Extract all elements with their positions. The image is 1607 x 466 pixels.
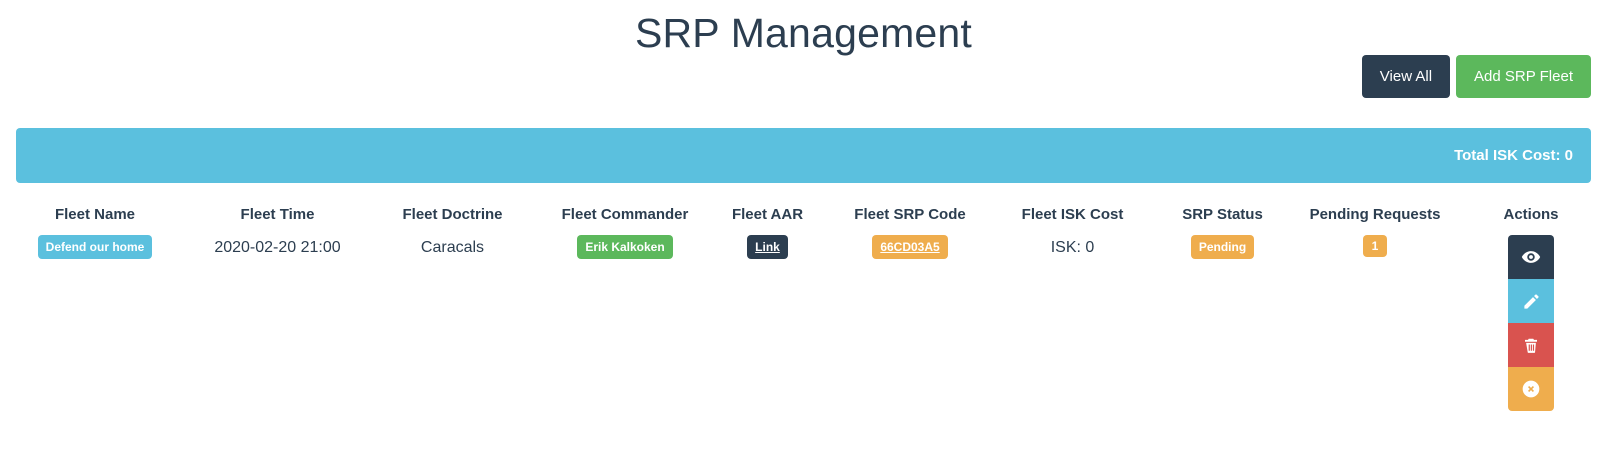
total-isk-cost-label: Total ISK Cost: 0 bbox=[1454, 147, 1591, 164]
disable-srp-fleet-button[interactable] bbox=[1508, 367, 1554, 411]
srp-status-badge: Pending bbox=[1191, 235, 1254, 259]
fleet-time-value: 2020-02-20 21:00 bbox=[214, 235, 340, 257]
total-isk-cost-banner: Total ISK Cost: 0 bbox=[16, 128, 1591, 183]
column-header-srp-status: SRP Status bbox=[1150, 200, 1295, 233]
pending-requests-badge[interactable]: 1 bbox=[1363, 235, 1388, 257]
srp-fleet-table-container: Fleet Name Fleet Time Fleet Doctrine Fle… bbox=[0, 200, 1607, 413]
trash-icon bbox=[1522, 336, 1540, 355]
fleet-aar-link[interactable]: Link bbox=[747, 235, 788, 259]
column-header-pending-requests: Pending Requests bbox=[1295, 200, 1455, 233]
times-circle-icon bbox=[1521, 379, 1541, 399]
row-action-stack bbox=[1459, 235, 1603, 411]
table-header-row: Fleet Name Fleet Time Fleet Doctrine Fle… bbox=[0, 200, 1607, 233]
column-header-actions: Actions bbox=[1455, 200, 1607, 233]
fleet-srp-code-link[interactable]: 66CD03A5 bbox=[872, 235, 947, 259]
add-srp-fleet-button[interactable]: Add SRP Fleet bbox=[1456, 55, 1591, 98]
pencil-icon bbox=[1522, 292, 1541, 311]
column-header-fleet-time: Fleet Time bbox=[190, 200, 365, 233]
fleet-isk-cost-value: ISK: 0 bbox=[1051, 235, 1095, 257]
cell-srp-status: Pending bbox=[1150, 233, 1295, 413]
cell-fleet-isk-cost: ISK: 0 bbox=[995, 233, 1150, 413]
fleet-name-badge[interactable]: Defend our home bbox=[38, 235, 153, 259]
cell-fleet-srp-code: 66CD03A5 bbox=[825, 233, 995, 413]
fleet-commander-badge: Erik Kalkoken bbox=[577, 235, 672, 259]
column-header-fleet-doctrine: Fleet Doctrine bbox=[365, 200, 540, 233]
column-header-fleet-name: Fleet Name bbox=[0, 200, 190, 233]
cell-fleet-commander: Erik Kalkoken bbox=[540, 233, 710, 413]
view-all-button[interactable]: View All bbox=[1362, 55, 1450, 98]
page-title: SRP Management bbox=[0, 0, 1607, 59]
column-header-fleet-commander: Fleet Commander bbox=[540, 200, 710, 233]
cell-pending-requests: 1 bbox=[1295, 233, 1455, 413]
edit-srp-fleet-button[interactable] bbox=[1508, 279, 1554, 323]
delete-srp-fleet-button[interactable] bbox=[1508, 323, 1554, 367]
column-header-fleet-isk-cost: Fleet ISK Cost bbox=[995, 200, 1150, 233]
cell-actions bbox=[1455, 233, 1607, 413]
column-header-fleet-aar: Fleet AAR bbox=[710, 200, 825, 233]
table-row: Defend our home 2020-02-20 21:00 Caracal… bbox=[0, 233, 1607, 413]
cell-fleet-name: Defend our home bbox=[0, 233, 190, 413]
eye-icon bbox=[1521, 247, 1541, 267]
cell-fleet-time: 2020-02-20 21:00 bbox=[190, 233, 365, 413]
fleet-doctrine-value: Caracals bbox=[421, 235, 484, 257]
view-srp-fleet-button[interactable] bbox=[1508, 235, 1554, 279]
cell-fleet-doctrine: Caracals bbox=[365, 233, 540, 413]
column-header-fleet-srp-code: Fleet SRP Code bbox=[825, 200, 995, 233]
cell-fleet-aar: Link bbox=[710, 233, 825, 413]
top-action-bar: View All Add SRP Fleet bbox=[1362, 55, 1591, 98]
srp-fleet-table: Fleet Name Fleet Time Fleet Doctrine Fle… bbox=[0, 200, 1607, 413]
